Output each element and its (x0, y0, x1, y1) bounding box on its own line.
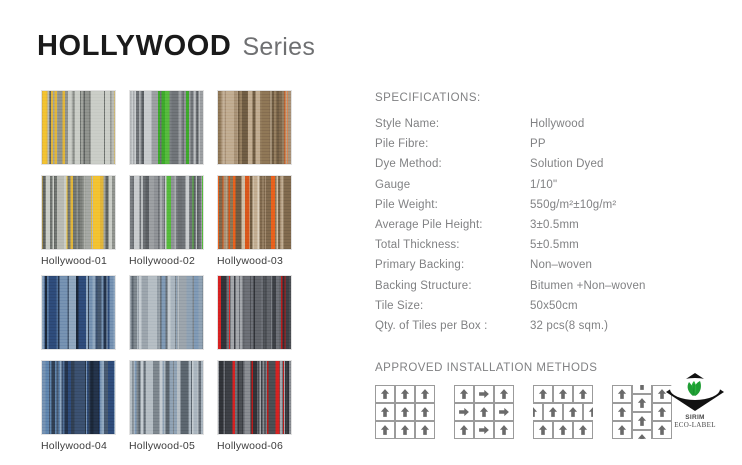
arrow-up-icon (568, 407, 579, 418)
specifications-heading: SPECIFICATIONS: (375, 92, 705, 104)
arrow-up-icon (548, 407, 559, 418)
installation-tile (395, 385, 415, 403)
carpet-swatch-hollywood-06[interactable] (217, 360, 292, 435)
arrow-up-icon (617, 425, 628, 436)
specifications-panel: SPECIFICATIONS: Style Name:HollywoodPile… (375, 92, 705, 336)
installation-tile (474, 403, 494, 421)
spec-value: 3±0.5mm (530, 215, 705, 235)
installation-tile (612, 421, 632, 439)
eco-label-mark (664, 371, 726, 413)
swatch-row-gap (129, 350, 204, 360)
arrow-up-icon (533, 407, 539, 418)
eco-label-sub: ECO-LABEL (664, 421, 726, 429)
installation-tile (474, 385, 494, 403)
arrow-up-icon (578, 425, 589, 436)
swatch-cell: Hollywood-04 (41, 360, 116, 460)
swatch-label: Hollywood-06 (217, 435, 292, 452)
carpet-swatch-hollywood-05[interactable] (129, 275, 204, 350)
arrow-up-icon (459, 389, 470, 400)
installation-tile (375, 421, 395, 439)
arrow-up-icon (380, 407, 391, 418)
swatch-label: Hollywood-05 (129, 435, 204, 452)
arrow-up-icon (558, 425, 569, 436)
spec-label: Gauge (375, 175, 530, 195)
carpet-swatch-hollywood-04[interactable] (41, 360, 116, 435)
spec-row: Total Thickness:5±0.5mm (375, 235, 705, 255)
spec-row: Gauge1/10" (375, 175, 705, 195)
arrow-up-icon (380, 389, 391, 400)
carpet-swatch-hollywood-06[interactable] (217, 275, 292, 350)
installation-tile (553, 421, 573, 439)
installation-tile (494, 403, 514, 421)
installation-diagram-brick-horizontal (533, 385, 593, 439)
spec-row: Primary Backing:Non–woven (375, 255, 705, 275)
spec-label: Average Pile Height: (375, 215, 530, 235)
installation-tile (612, 403, 632, 421)
swatch-row-gap (217, 350, 292, 360)
arrow-up-icon (538, 389, 549, 400)
arrow-up-icon (578, 389, 589, 400)
installation-tile (415, 403, 435, 421)
arrow-up-icon (380, 425, 391, 436)
swatch-row-gap (217, 165, 292, 175)
arrow-up-icon (420, 389, 431, 400)
swatch-row-gap (41, 165, 116, 175)
spec-value: Non–woven (530, 255, 705, 275)
spec-row: Style Name:Hollywood (375, 114, 705, 134)
installation-tile (415, 385, 435, 403)
swatch-label: Hollywood-02 (129, 250, 204, 267)
installation-tile (543, 403, 563, 421)
swatch-cell: Hollywood-06 (217, 360, 292, 460)
installation-tile (375, 403, 395, 421)
installation-diagram-quarter-turn (454, 385, 514, 439)
spec-value: 550g/m²±10g/m² (530, 195, 705, 215)
swatch-cell: Hollywood-03 (217, 175, 292, 275)
carpet-swatch-hollywood-02[interactable] (129, 90, 204, 165)
spec-row: Tile Size:50x50cm (375, 296, 705, 316)
installation-tile (533, 385, 553, 403)
installation-tile (415, 421, 435, 439)
swatch-cell (129, 275, 204, 360)
installation-diagrams (375, 385, 672, 439)
installation-tile (494, 385, 514, 403)
swatch-cell: Hollywood-02 (129, 175, 204, 275)
swatch-label-gap (217, 267, 292, 275)
spec-label: Style Name: (375, 114, 530, 134)
spec-label: Pile Fibre: (375, 134, 530, 154)
spec-value: Solution Dyed (530, 154, 705, 174)
carpet-swatch-hollywood-03[interactable] (217, 90, 292, 165)
installation-tile (454, 403, 474, 421)
spec-label: Tile Size: (375, 296, 530, 316)
spec-row: Average Pile Height:3±0.5mm (375, 215, 705, 235)
installation-tile (553, 385, 573, 403)
carpet-swatch-hollywood-02[interactable] (129, 175, 204, 250)
spec-row: Backing Structure:Bitumen +Non–woven (375, 276, 705, 296)
swatch-cell (41, 90, 116, 175)
swatch-label: Hollywood-01 (41, 250, 116, 267)
spec-label: Dye Method: (375, 154, 530, 174)
swatch-label-gap (129, 267, 204, 275)
installation-tile (632, 394, 652, 412)
arrow-up-icon (617, 407, 628, 418)
installation-tile (632, 430, 652, 439)
spec-label: Pile Weight: (375, 195, 530, 215)
arrow-up-icon (588, 407, 594, 418)
spec-row: Pile Weight:550g/m²±10g/m² (375, 195, 705, 215)
swatch-cell: Hollywood-01 (41, 175, 116, 275)
installation-tile (632, 385, 652, 394)
swatch-label-gap (217, 452, 292, 460)
spec-value: Hollywood (530, 114, 705, 134)
eco-label-name: SIRIM (664, 414, 726, 421)
carpet-swatch-hollywood-03[interactable] (217, 175, 292, 250)
spec-value: Bitumen +Non–woven (530, 276, 705, 296)
arrow-up-icon (420, 407, 431, 418)
arrow-right-icon (479, 389, 490, 400)
installation-diagram-monolithic (375, 385, 435, 439)
installation-tile (563, 403, 583, 421)
arrow-up-icon (538, 425, 549, 436)
installation-tile (454, 421, 474, 439)
spec-row: Qty. of Tiles per Box :32 pcs(8 sqm.) (375, 316, 705, 336)
carpet-swatch-hollywood-01[interactable] (41, 175, 116, 250)
installation-tile (494, 421, 514, 439)
arrow-up-icon (637, 385, 648, 391)
spec-row: Dye Method:Solution Dyed (375, 154, 705, 174)
swatch-cell (217, 275, 292, 360)
swatch-cell (41, 275, 116, 360)
page-title: HOLLYWOOD Series (37, 30, 315, 63)
arrow-up-icon (637, 434, 648, 440)
installation-tile (632, 412, 652, 430)
spec-row: Pile Fibre:PP (375, 134, 705, 154)
installation-diagram-ashlar-vertical (612, 385, 672, 439)
spec-label: Backing Structure: (375, 276, 530, 296)
specifications-list: Style Name:HollywoodPile Fibre:PPDye Met… (375, 114, 705, 336)
spec-value: 32 pcs(8 sqm.) (530, 316, 705, 336)
arrow-up-icon (459, 425, 470, 436)
swatch-label: Hollywood-04 (41, 435, 116, 452)
swatch-cell (217, 90, 292, 175)
arrow-up-icon (400, 407, 411, 418)
swatch-label-gap (129, 452, 204, 460)
arrow-up-icon (400, 425, 411, 436)
swatch-row-gap (129, 165, 204, 175)
arrow-up-icon (400, 389, 411, 400)
installation-tile (583, 403, 593, 421)
installation-tile (474, 421, 494, 439)
spec-label: Total Thickness: (375, 235, 530, 255)
carpet-swatch-hollywood-01[interactable] (41, 90, 116, 165)
arrow-up-icon (479, 407, 490, 418)
swatch-label: Hollywood-03 (217, 250, 292, 267)
installation-tile (533, 403, 543, 421)
installation-panel: APPROVED INSTALLATION METHODS (375, 362, 672, 439)
sirim-eco-label: SIRIM ECO-LABEL (664, 371, 726, 429)
carpet-swatch-hollywood-04[interactable] (41, 275, 116, 350)
installation-tile (533, 421, 553, 439)
installation-tile (612, 385, 632, 403)
arrow-up-icon (420, 425, 431, 436)
swatch-cell (129, 90, 204, 175)
spec-label: Qty. of Tiles per Box : (375, 316, 530, 336)
installation-tile (375, 385, 395, 403)
swatch-label-gap (41, 267, 116, 275)
installation-tile (395, 403, 415, 421)
installation-tile (454, 385, 474, 403)
installation-heading: APPROVED INSTALLATION METHODS (375, 362, 672, 374)
installation-tile (395, 421, 415, 439)
swatch-grid: Hollywood-01Hollywood-02Hollywood-03Holl… (41, 90, 292, 460)
swatch-label-gap (41, 452, 116, 460)
spec-value: PP (530, 134, 705, 154)
swatch-row-gap (41, 350, 116, 360)
installation-tile (573, 421, 593, 439)
arrow-up-icon (637, 416, 648, 427)
carpet-swatch-hollywood-05[interactable] (129, 360, 204, 435)
title-sub: Series (242, 33, 315, 62)
title-main: HOLLYWOOD (37, 30, 231, 63)
arrow-up-icon (499, 425, 510, 436)
spec-label: Primary Backing: (375, 255, 530, 275)
spec-value: 50x50cm (530, 296, 705, 316)
swatch-cell: Hollywood-05 (129, 360, 204, 460)
arrow-up-icon (617, 389, 628, 400)
arrow-up-icon (558, 389, 569, 400)
spec-value: 5±0.5mm (530, 235, 705, 255)
spec-value: 1/10" (530, 175, 705, 195)
arrow-up-icon (499, 389, 510, 400)
arrow-right-icon (459, 407, 470, 418)
arrow-right-icon (479, 425, 490, 436)
arrow-up-icon (637, 398, 648, 409)
arrow-right-icon (499, 407, 510, 418)
installation-tile (573, 385, 593, 403)
